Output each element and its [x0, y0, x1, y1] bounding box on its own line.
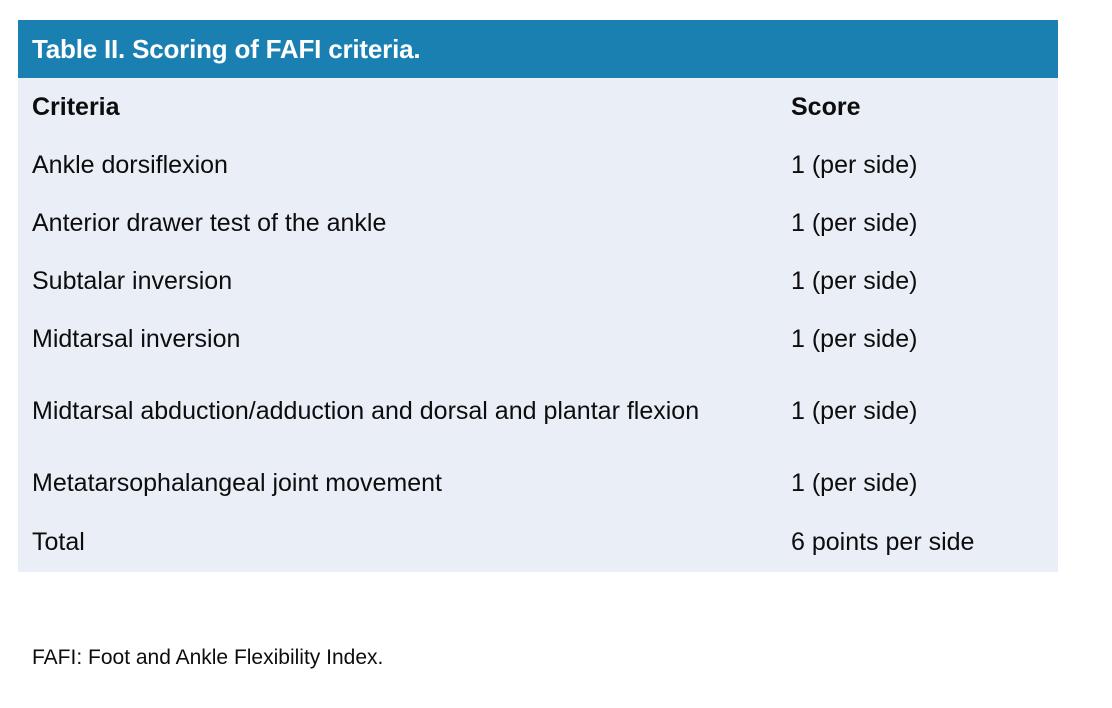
- table-header-row: Criteria Score: [18, 78, 1058, 136]
- table-row: Subtalar inversion1 (per side): [18, 252, 1058, 310]
- cell-criteria: Ankle dorsiflexion: [18, 136, 785, 194]
- table-footnote: FAFI: Foot and Ankle Flexibility Index.: [32, 645, 383, 670]
- table-rows: Ankle dorsiflexion1 (per side)Anterior d…: [18, 136, 1058, 572]
- cell-score: 1 (per side): [785, 368, 1058, 454]
- table-head: Criteria Score: [18, 78, 1058, 136]
- table-row: Ankle dorsiflexion1 (per side): [18, 136, 1058, 194]
- table-title-bar: Table II. Scoring of FAFI criteria.: [18, 20, 1058, 78]
- cell-score: 1 (per side): [785, 252, 1058, 310]
- cell-criteria: Subtalar inversion: [18, 252, 785, 310]
- cell-score: 1 (per side): [785, 194, 1058, 252]
- table-title: Table II. Scoring of FAFI criteria.: [32, 36, 420, 62]
- table-row: Midtarsal inversion1 (per side): [18, 310, 1058, 368]
- cell-score: 1 (per side): [785, 454, 1058, 512]
- table-body: Criteria Score Ankle dorsiflexion1 (per …: [18, 78, 1058, 572]
- table-row: Midtarsal abduction/adduction and dorsal…: [18, 368, 1058, 454]
- cell-criteria: Total: [18, 512, 785, 572]
- cell-score: 1 (per side): [785, 136, 1058, 194]
- table-row: Metatarsophalangeal joint movement1 (per…: [18, 454, 1058, 512]
- table-row: Total6 points per side: [18, 512, 1058, 572]
- cell-criteria: Midtarsal inversion: [18, 310, 785, 368]
- table-row: Anterior drawer test of the ankle1 (per …: [18, 194, 1058, 252]
- table-container: Table II. Scoring of FAFI criteria. Crit…: [18, 20, 1058, 572]
- column-header-criteria: Criteria: [18, 78, 785, 136]
- cell-score: 6 points per side: [785, 512, 1058, 572]
- scoring-table: Criteria Score Ankle dorsiflexion1 (per …: [18, 78, 1058, 572]
- column-header-score: Score: [785, 78, 1058, 136]
- cell-criteria: Midtarsal abduction/adduction and dorsal…: [18, 368, 785, 454]
- cell-criteria: Anterior drawer test of the ankle: [18, 194, 785, 252]
- cell-score: 1 (per side): [785, 310, 1058, 368]
- cell-criteria: Metatarsophalangeal joint movement: [18, 454, 785, 512]
